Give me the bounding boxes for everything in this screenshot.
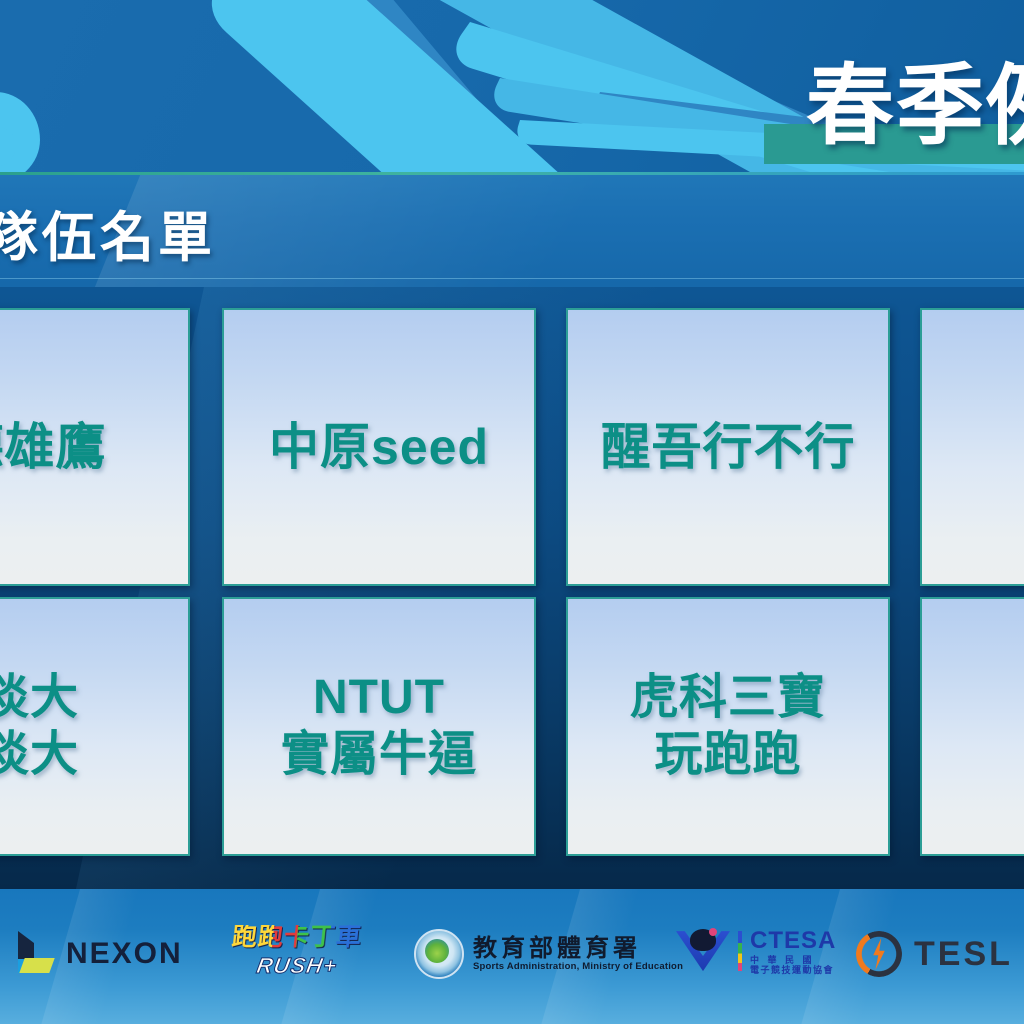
- page-title: 春季例: [806, 62, 1024, 150]
- ctesa-color-bar-icon: [738, 931, 742, 971]
- subtitle-text: 隊伍名單: [0, 193, 216, 272]
- sports-administration-name-zh: 教育部體育署: [473, 936, 683, 962]
- hero-banner: 春季例: [0, 0, 1024, 178]
- nexon-logo-icon: [14, 931, 56, 977]
- sponsor-sports-administration[interactable]: 教育部體育署 Sports Administration, Ministry o…: [414, 929, 683, 979]
- team-card[interactable]: 淡大 淡大: [0, 597, 190, 856]
- team-name: NUK: [1018, 418, 1024, 477]
- ctesa-eagle-icon: [676, 927, 730, 975]
- team-name: 德雄鷹: [0, 418, 113, 477]
- kartrider-wordmark-zh: 跑跑卡丁車: [221, 925, 374, 950]
- team-card[interactable]: 中原seed: [222, 308, 536, 586]
- team-name: 中原seed: [263, 418, 495, 477]
- sports-administration-text: 教育部體育署 Sports Administration, Ministry o…: [473, 936, 683, 973]
- hero-bottom-divider: [0, 172, 1024, 175]
- team-card[interactable]: 東 創: [920, 597, 1024, 856]
- sponsor-footer: NEXON 跑跑卡丁車 RUSH+ 教育部體育署 Sports Administ…: [0, 889, 1024, 1024]
- nexon-wordmark: NEXON: [66, 937, 183, 971]
- sponsor-ctesa[interactable]: CTESA 中 華 民 國 電子競技運動協會: [676, 927, 836, 975]
- tesl-bolt-icon: [856, 931, 902, 977]
- team-name: 虎科三寶 玩跑跑: [624, 670, 832, 783]
- ctesa-wordmark: CTESA: [750, 927, 836, 955]
- team-card[interactable]: NUK: [920, 308, 1024, 586]
- team-card[interactable]: 虎科三寶 玩跑跑: [566, 597, 890, 856]
- sponsor-kartrider[interactable]: 跑跑卡丁車 RUSH+: [222, 925, 372, 979]
- sponsor-tesl[interactable]: TESL: [856, 931, 1013, 977]
- team-name: 醒吾行不行: [595, 418, 862, 477]
- sponsor-nexon[interactable]: NEXON: [14, 931, 183, 977]
- subtitle-band: 隊伍名單: [0, 175, 1024, 287]
- team-name: NTUT 實屬牛逼: [275, 670, 483, 783]
- ctesa-name-zh-line2: 電子競技運動協會: [750, 965, 836, 975]
- sponsor-logo-row: NEXON 跑跑卡丁車 RUSH+ 教育部體育署 Sports Administ…: [0, 889, 1024, 1024]
- team-card[interactable]: NTUT 實屬牛逼: [222, 597, 536, 856]
- team-name: 淡大 淡大: [0, 670, 85, 783]
- ctesa-text: CTESA 中 華 民 國 電子競技運動協會: [750, 927, 836, 975]
- team-card[interactable]: 醒吾行不行: [566, 308, 890, 586]
- kartrider-wordmark-en: RUSH+: [220, 953, 375, 979]
- slide-root: 春季例 隊伍名單 德雄鷹 中原seed 醒吾行不行 NUK 淡大 淡大 NTUT…: [0, 0, 1024, 1024]
- team-grid: 德雄鷹 中原seed 醒吾行不行 NUK 淡大 淡大 NTUT 實屬牛逼 虎科三…: [0, 287, 1024, 889]
- ctesa-name-zh-line1: 中 華 民 國: [750, 955, 836, 965]
- sports-administration-seal-icon: [414, 929, 464, 979]
- team-card[interactable]: 德雄鷹: [0, 308, 190, 586]
- sports-administration-name-en: Sports Administration, Ministry of Educa…: [473, 962, 683, 972]
- tesl-wordmark: TESL: [914, 935, 1013, 974]
